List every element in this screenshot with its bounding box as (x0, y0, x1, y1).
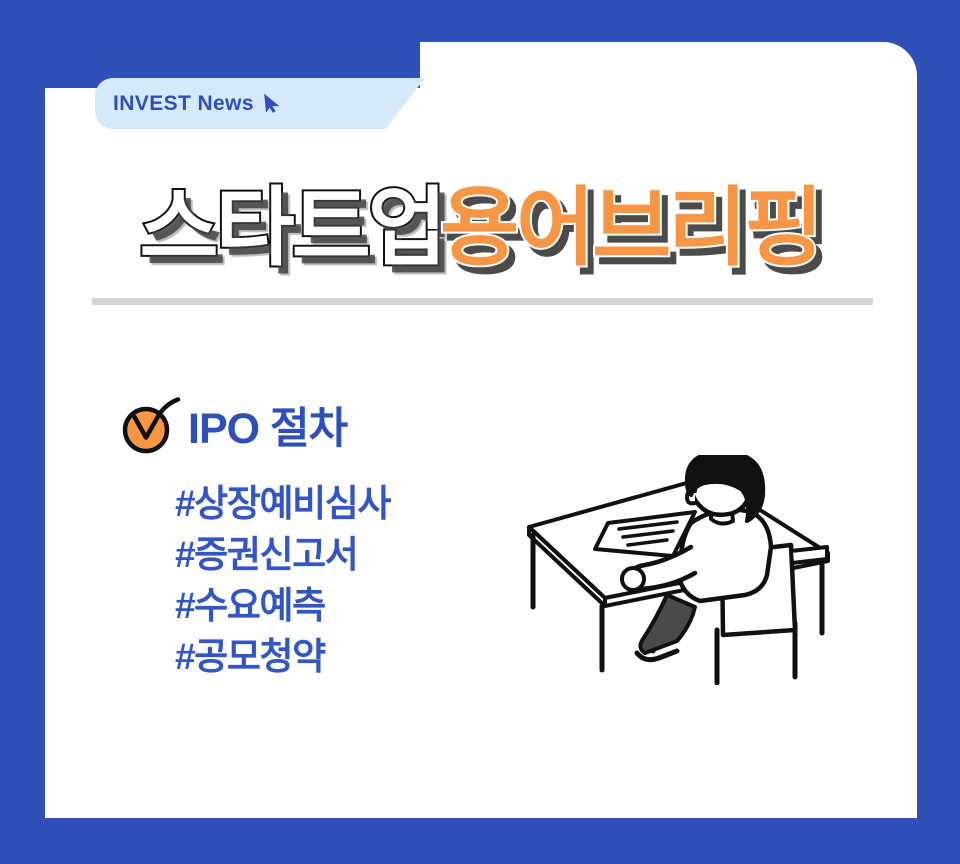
headline-part-white: 스타트업 (139, 185, 443, 271)
section-heading: IPO 절차 (120, 394, 347, 456)
invest-news-card: INVEST News 스타트업용어브리핑 IPO 절차 #상장예비심사 #증권… (0, 0, 960, 864)
person-hand (622, 568, 644, 590)
person-reading-document-at-desk-illustration (495, 455, 865, 685)
headline: 스타트업용어브리핑 (0, 185, 960, 271)
title-divider (92, 298, 873, 305)
cursor-arrow-icon (261, 92, 281, 114)
headline-part-orange: 용어브리핑 (440, 185, 821, 271)
invest-news-tab[interactable]: INVEST News (95, 78, 425, 129)
hashtag-item[interactable]: #수요예측 (175, 580, 390, 631)
top-blue-wedge (0, 0, 420, 88)
hashtag-list: #상장예비심사 #증권신고서 #수요예측 #공모청약 (175, 478, 390, 682)
hashtag-item[interactable]: #공모청약 (175, 631, 390, 682)
section-title: IPO 절차 (188, 408, 347, 451)
hashtag-item[interactable]: #상장예비심사 (175, 478, 390, 529)
orange-check-circle-icon (120, 396, 182, 458)
tab-label: INVEST News (113, 92, 254, 116)
person-legs (640, 595, 695, 653)
hashtag-item[interactable]: #증권신고서 (175, 529, 390, 580)
